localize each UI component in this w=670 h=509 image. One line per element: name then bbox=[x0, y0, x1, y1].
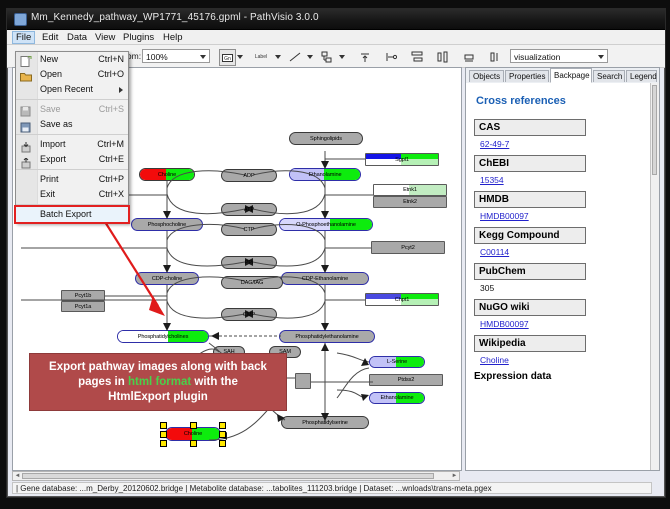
menu-separator bbox=[16, 99, 128, 100]
backpage-content: Cross references CAS 62-49-7 ChEBI 15354… bbox=[466, 83, 659, 470]
menu-item-label: New bbox=[40, 54, 58, 64]
window-title: Mm_Kennedy_pathway_WP1771_45176.gpml - P… bbox=[31, 12, 319, 23]
xref-label-wikipedia: Wikipedia bbox=[474, 335, 586, 352]
xref-label-nugo: NuGO wiki bbox=[474, 299, 586, 316]
node-label: Pcyt2 bbox=[401, 245, 415, 251]
xref-value-wikipedia[interactable]: Choline bbox=[480, 355, 651, 365]
menu-item-accel: Ctrl+S bbox=[99, 102, 124, 117]
node-label: Pcyt1b bbox=[75, 293, 92, 299]
datanode-dropdown-icon[interactable] bbox=[237, 55, 243, 59]
app-icon bbox=[14, 13, 27, 26]
menu-item-open[interactable]: Open Ctrl+O bbox=[16, 67, 128, 82]
xref-row: Wikipedia Choline bbox=[474, 335, 651, 365]
resize-handle-s[interactable] bbox=[190, 440, 197, 447]
xref-value-kegg[interactable]: C00114 bbox=[480, 247, 651, 257]
hscroll-thumb[interactable] bbox=[22, 473, 434, 479]
node-label: Ethanolamine bbox=[308, 172, 341, 178]
interaction-icon[interactable] bbox=[319, 49, 334, 64]
title-bar: Mm_Kennedy_pathway_WP1771_45176.gpml - P… bbox=[7, 9, 665, 30]
svg-text:Gn: Gn bbox=[224, 56, 231, 62]
menu-file[interactable]: File bbox=[12, 31, 35, 44]
visualization-value: visualization bbox=[514, 52, 560, 62]
resize-handle-e[interactable] bbox=[219, 431, 226, 438]
menu-item-accel: Ctrl+M bbox=[97, 137, 124, 152]
menu-item-accel: Ctrl+O bbox=[98, 67, 124, 82]
menu-item-accel: Ctrl+P bbox=[99, 172, 124, 187]
node-label: Etnk1 bbox=[403, 187, 417, 193]
visualization-combo[interactable]: visualization bbox=[510, 49, 608, 63]
resize-handle-n[interactable] bbox=[190, 422, 197, 429]
canvas-hscrollbar[interactable]: ◄ ► bbox=[12, 471, 460, 481]
menu-item-accel: Ctrl+X bbox=[99, 187, 124, 202]
cross-references-heading: Cross references bbox=[476, 95, 651, 107]
pathvisio-window: Mm_Kennedy_pathway_WP1771_45176.gpml - P… bbox=[6, 8, 666, 498]
node-label: Phosphatidylethanolamine bbox=[295, 334, 358, 340]
menu-item-import[interactable]: Import Ctrl+M bbox=[16, 137, 128, 152]
open-folder-icon bbox=[20, 69, 32, 80]
node-label: Ptdss2 bbox=[398, 377, 415, 383]
annotation-line2b: with the bbox=[191, 376, 238, 388]
menu-item-label: Open bbox=[40, 69, 62, 79]
menu-item-open-recent[interactable]: Open Recent bbox=[16, 82, 128, 97]
export-icon bbox=[20, 156, 32, 167]
menu-item-label: Save as bbox=[40, 119, 73, 129]
menu-item-label: Exit bbox=[40, 189, 55, 199]
node-label: CMP bbox=[243, 312, 255, 318]
menu-plugins[interactable]: Plugins bbox=[119, 31, 158, 44]
menu-item-new[interactable]: New Ctrl+N bbox=[16, 52, 128, 67]
menu-separator bbox=[16, 169, 128, 170]
node-label: DAG/IAG bbox=[241, 280, 264, 286]
zoom-value: 100% bbox=[146, 52, 168, 62]
menu-edit[interactable]: Edit bbox=[38, 31, 62, 44]
xref-value-chebi[interactable]: 15354 bbox=[480, 175, 651, 185]
resize-handle-nw[interactable] bbox=[160, 422, 167, 429]
resize-handle-sw[interactable] bbox=[160, 440, 167, 447]
menu-item-save-as[interactable]: Save as bbox=[16, 117, 128, 132]
node-label: Choline bbox=[184, 431, 202, 437]
distribute-v-icon[interactable] bbox=[435, 49, 450, 64]
side-panel: Objects Properties Backpage Search Legen… bbox=[465, 67, 660, 471]
node-label: CDP-Ethanolamine bbox=[302, 276, 348, 282]
xref-row: HMDB HMDB00097 bbox=[474, 191, 651, 221]
submenu-arrow-icon bbox=[119, 87, 123, 93]
line-dropdown-icon[interactable] bbox=[307, 55, 313, 59]
annotation-line2a: pages in bbox=[78, 376, 128, 388]
xref-link[interactable]: C00114 bbox=[480, 247, 509, 257]
node-label: ATP bbox=[244, 207, 254, 213]
save-as-icon bbox=[20, 120, 32, 131]
align-top-icon[interactable] bbox=[357, 49, 372, 64]
line-icon[interactable] bbox=[287, 49, 302, 64]
node-label: Phosphatidylcholines bbox=[138, 334, 189, 340]
xref-link[interactable]: Choline bbox=[480, 355, 509, 365]
zoom-combo[interactable]: 100% bbox=[142, 49, 210, 63]
xref-row: NuGO wiki HMDB00097 bbox=[474, 299, 651, 329]
xref-label-kegg: Kegg Compound bbox=[474, 227, 586, 244]
xref-value-pubchem: 305 bbox=[480, 283, 651, 293]
menu-item-save[interactable]: Save Ctrl+S bbox=[16, 102, 128, 117]
menu-view[interactable]: View bbox=[91, 31, 119, 44]
node-label: PPi bbox=[245, 260, 253, 266]
node-label: CDP-choline bbox=[152, 276, 182, 282]
node-label: Chpt1 bbox=[395, 297, 409, 303]
xref-label-pubchem: PubChem bbox=[474, 263, 586, 280]
menu-item-exit[interactable]: Exit Ctrl+X bbox=[16, 187, 128, 202]
annotation-line3: HtmlExport plugin bbox=[108, 391, 208, 403]
node-label: Phosphatidylserine bbox=[302, 420, 347, 426]
node-label: Choline bbox=[158, 172, 176, 178]
xref-row: CAS 62-49-7 bbox=[474, 119, 651, 149]
save-disk-icon bbox=[20, 104, 32, 115]
node-label: Sphingolipids bbox=[310, 136, 342, 142]
tab-properties[interactable]: Properties bbox=[505, 70, 549, 82]
menu-item-label: Save bbox=[40, 104, 61, 114]
expression-data-heading: Expression data bbox=[474, 371, 651, 382]
xref-value-cas[interactable]: 62-49-7 bbox=[480, 139, 651, 149]
screen: Mm_Kennedy_pathway_WP1771_45176.gpml - P… bbox=[0, 0, 670, 509]
tab-objects[interactable]: Objects bbox=[469, 70, 504, 82]
same-height-icon[interactable] bbox=[487, 49, 502, 64]
label-icon-text: Label bbox=[255, 54, 267, 60]
status-bar: | Gene database: ...m_Derby_20120602.bri… bbox=[12, 482, 652, 494]
chevron-down-icon bbox=[200, 55, 206, 59]
xref-link[interactable]: 15354 bbox=[480, 175, 504, 185]
tab-search[interactable]: Search bbox=[593, 70, 625, 82]
node-label: Sgpl1 bbox=[395, 157, 409, 163]
xref-link[interactable]: HMDB00097 bbox=[480, 319, 529, 329]
menu-separator bbox=[16, 134, 128, 135]
xref-value-hmdb[interactable]: HMDB00097 bbox=[480, 211, 651, 221]
node-label: O-Phosphoethanolamine bbox=[296, 222, 356, 228]
menu-separator bbox=[16, 204, 128, 205]
annotation-text: Export pathway images along with back pa… bbox=[43, 360, 273, 405]
xref-link[interactable]: HMDB00097 bbox=[480, 211, 529, 221]
node-label: Pcyt1a bbox=[75, 304, 92, 310]
menu-item-label: Batch Export bbox=[40, 209, 92, 219]
file-menu-dropdown[interactable]: New Ctrl+N Open Ctrl+O Open Recent Save … bbox=[15, 51, 129, 223]
menu-item-accel: Ctrl+E bbox=[99, 152, 124, 167]
import-icon bbox=[20, 140, 32, 151]
scroll-left-arrow[interactable]: ◄ bbox=[14, 473, 21, 479]
menu-item-label: Export bbox=[40, 154, 66, 164]
chevron-down-icon bbox=[598, 55, 604, 59]
new-document-icon bbox=[20, 54, 32, 65]
menu-item-label: Print bbox=[40, 174, 59, 184]
resize-handle-se[interactable] bbox=[219, 440, 226, 447]
align-left-icon[interactable] bbox=[383, 49, 398, 64]
xref-label-hmdb: HMDB bbox=[474, 191, 586, 208]
node-label: Etnk2 bbox=[403, 199, 417, 205]
node-label: Phosphocholine bbox=[148, 222, 186, 228]
tab-backpage[interactable]: Backpage bbox=[550, 68, 592, 83]
label-dropdown-icon[interactable] bbox=[275, 55, 281, 59]
menu-item-batch-export[interactable]: Batch Export bbox=[16, 207, 128, 222]
menu-item-print[interactable]: Print Ctrl+P bbox=[16, 172, 128, 187]
xref-label-cas: CAS bbox=[474, 119, 586, 136]
menu-item-export[interactable]: Export Ctrl+E bbox=[16, 152, 128, 167]
scroll-right-arrow[interactable]: ► bbox=[451, 473, 458, 479]
node-label: L-Serine bbox=[387, 359, 407, 365]
annotation-callout: Export pathway images along with back pa… bbox=[29, 353, 287, 411]
menu-bar: File Edit Data View Plugins Help bbox=[7, 30, 665, 45]
xref-row: Kegg Compound C00114 bbox=[474, 227, 651, 257]
xref-label-chebi: ChEBI bbox=[474, 155, 586, 172]
resize-handle-ne[interactable] bbox=[219, 422, 226, 429]
menu-item-accel: Ctrl+N bbox=[98, 52, 124, 67]
node-label: ADP bbox=[243, 173, 254, 179]
menu-data[interactable]: Data bbox=[63, 31, 91, 44]
xref-link[interactable]: 62-49-7 bbox=[480, 139, 509, 149]
node-label: Ethanolamine bbox=[380, 395, 413, 401]
xref-value-nugo[interactable]: HMDB00097 bbox=[480, 319, 651, 329]
vscroll-thumb[interactable] bbox=[652, 85, 657, 175]
datanode-icon[interactable]: Gn bbox=[219, 49, 236, 66]
interaction-dropdown-icon[interactable] bbox=[339, 55, 345, 59]
menu-item-label: Import bbox=[40, 139, 66, 149]
node-label: CTP bbox=[244, 227, 255, 233]
resize-handle-w[interactable] bbox=[160, 431, 167, 438]
side-panel-tabs: Objects Properties Backpage Search Legen… bbox=[466, 68, 659, 84]
label-icon[interactable]: Label bbox=[250, 49, 272, 64]
same-width-icon[interactable] bbox=[461, 49, 476, 64]
menu-item-label: Open Recent bbox=[40, 84, 93, 94]
xref-row: ChEBI 15354 bbox=[474, 155, 651, 185]
annotation-highlight: html format bbox=[128, 376, 191, 388]
menu-help[interactable]: Help bbox=[159, 31, 187, 44]
side-panel-vscrollbar[interactable] bbox=[650, 83, 659, 470]
xref-row: PubChem 305 bbox=[474, 263, 651, 293]
distribute-h-icon[interactable] bbox=[409, 49, 424, 64]
tab-legend[interactable]: Legend bbox=[626, 70, 657, 82]
annotation-line1: Export pathway images along with back bbox=[49, 361, 267, 373]
